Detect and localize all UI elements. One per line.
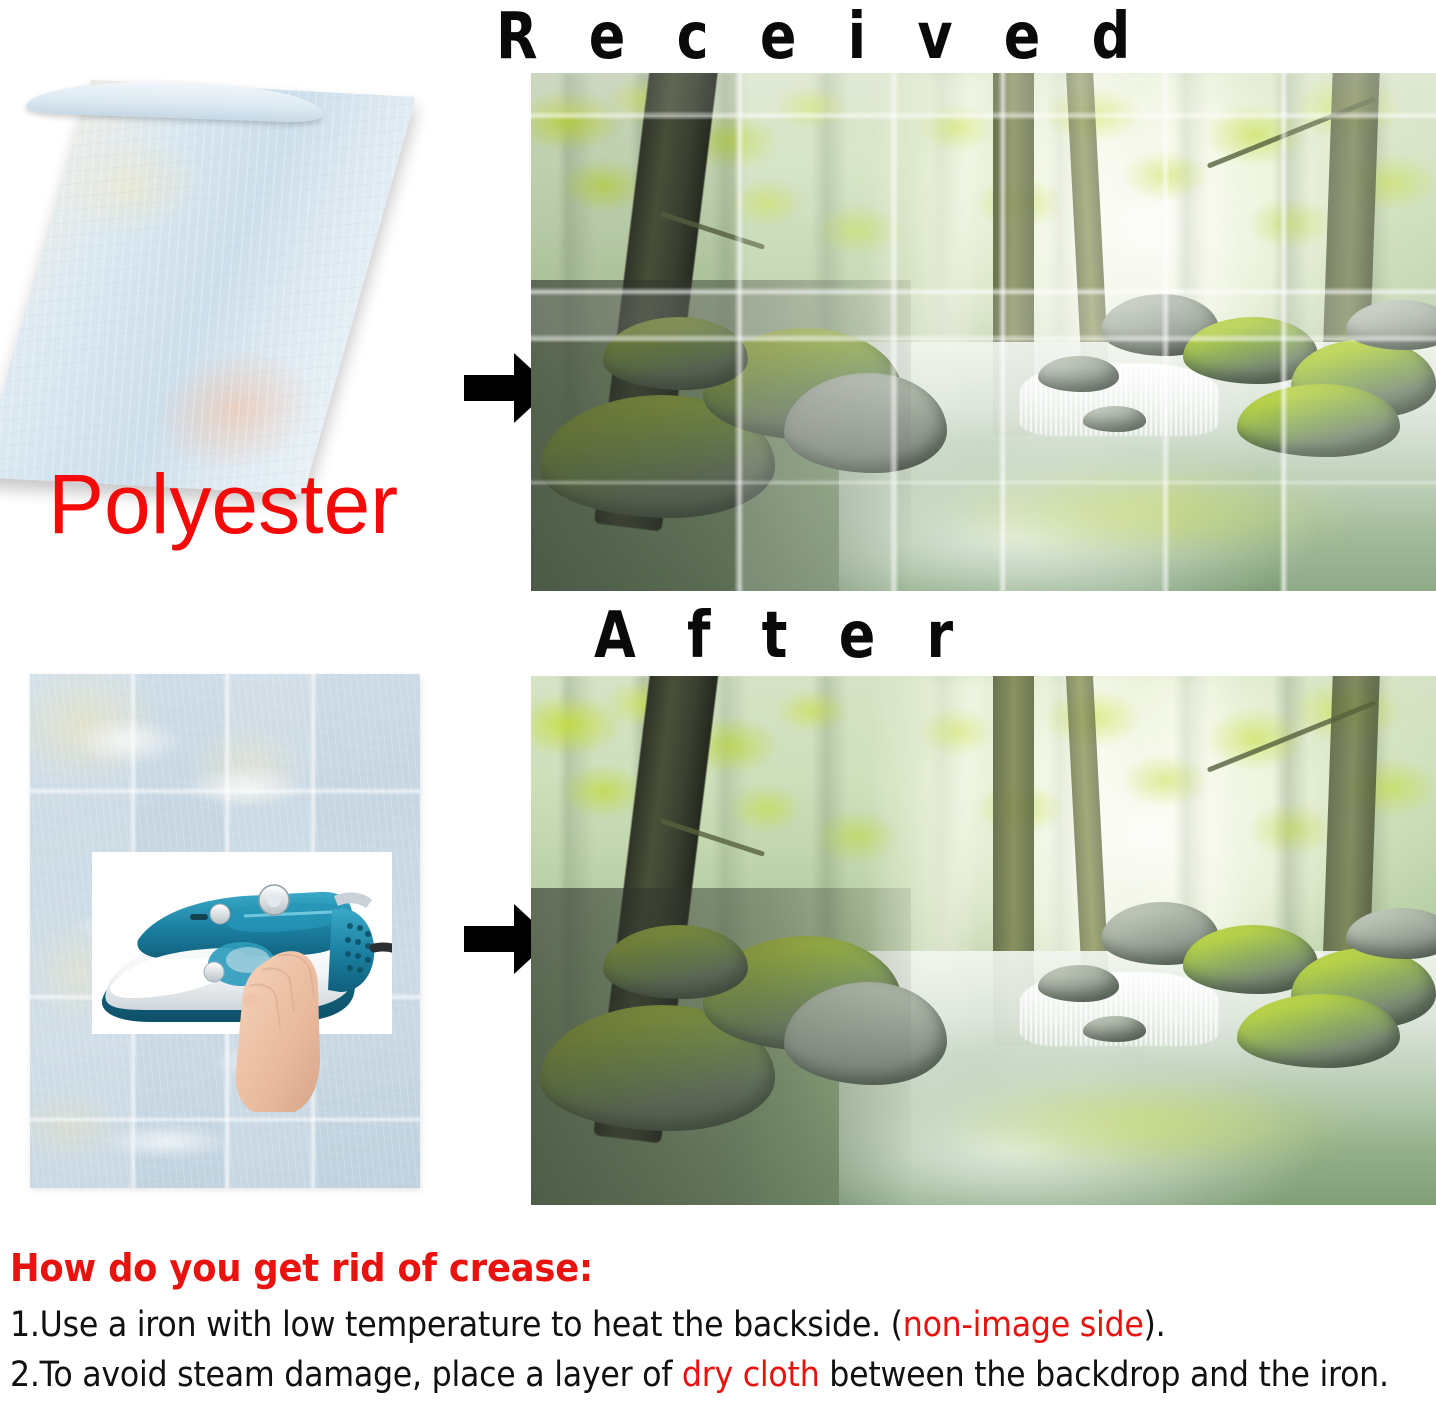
instruction-step-2: 2.To avoid steam damage, place a layer o… [10,1353,1295,1399]
step-1-text-before: Use a iron with low temperature to heat … [40,1305,903,1345]
instructions-heading: How do you get rid of crease: [10,1248,1331,1289]
step-2-text-before: To avoid steam damage, place a layer of [40,1355,682,1395]
step-2-number: 2. [10,1355,40,1395]
step-1-text-after: ). [1144,1305,1166,1345]
after-backdrop-image [531,676,1436,1205]
step-1-highlight: non-image side [903,1305,1144,1345]
step-1-number: 1. [10,1305,40,1345]
step-2-highlight: dry cloth [682,1355,820,1395]
iron-photo-card [92,852,392,1034]
polyester-material-label: Polyester [48,462,398,546]
fabric-top-curl [24,77,332,123]
after-section-title: A f t e r [594,604,969,668]
instruction-step-1: 1.Use a iron with low temperature to hea… [10,1303,1295,1349]
iron-button [210,904,230,924]
iron-power-cord [374,947,392,964]
polyester-fabric-roll-image [18,78,438,498]
step-2-text-after: between the backdrop and the iron. [820,1355,1389,1395]
received-backdrop-image [531,73,1436,591]
shadowed-foreground [531,888,911,1205]
shadowed-foreground [531,280,911,591]
iron-spray-button [204,962,224,982]
fabric-sheet [0,80,416,495]
product-instruction-graphic: R e c e i v e d Polyester [0,0,1436,1402]
received-section-title: R e c e i v e d [496,5,1146,69]
care-instructions: How do you get rid of crease: 1.Use a ir… [10,1248,1430,1398]
iron-heel [328,908,374,992]
